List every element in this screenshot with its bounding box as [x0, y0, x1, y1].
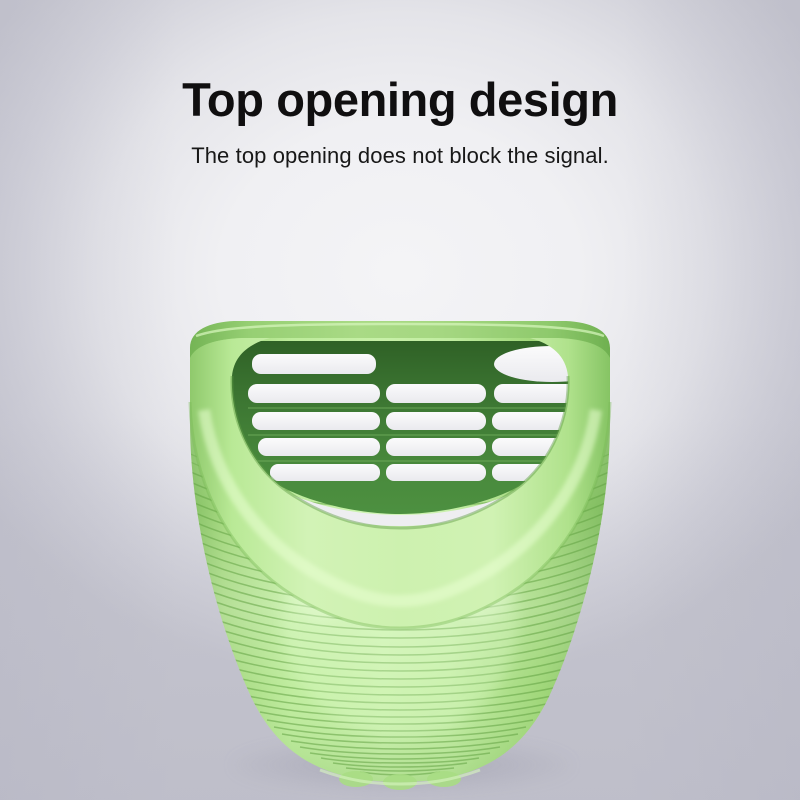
page-subtitle: The top opening does not block the signa…	[0, 142, 800, 170]
product-image	[160, 318, 640, 800]
product-feature-slide: Top opening design The top opening does …	[0, 0, 800, 800]
page-title: Top opening design	[0, 72, 800, 128]
text-block: Top opening design The top opening does …	[0, 72, 800, 170]
product-illustration	[160, 318, 640, 800]
